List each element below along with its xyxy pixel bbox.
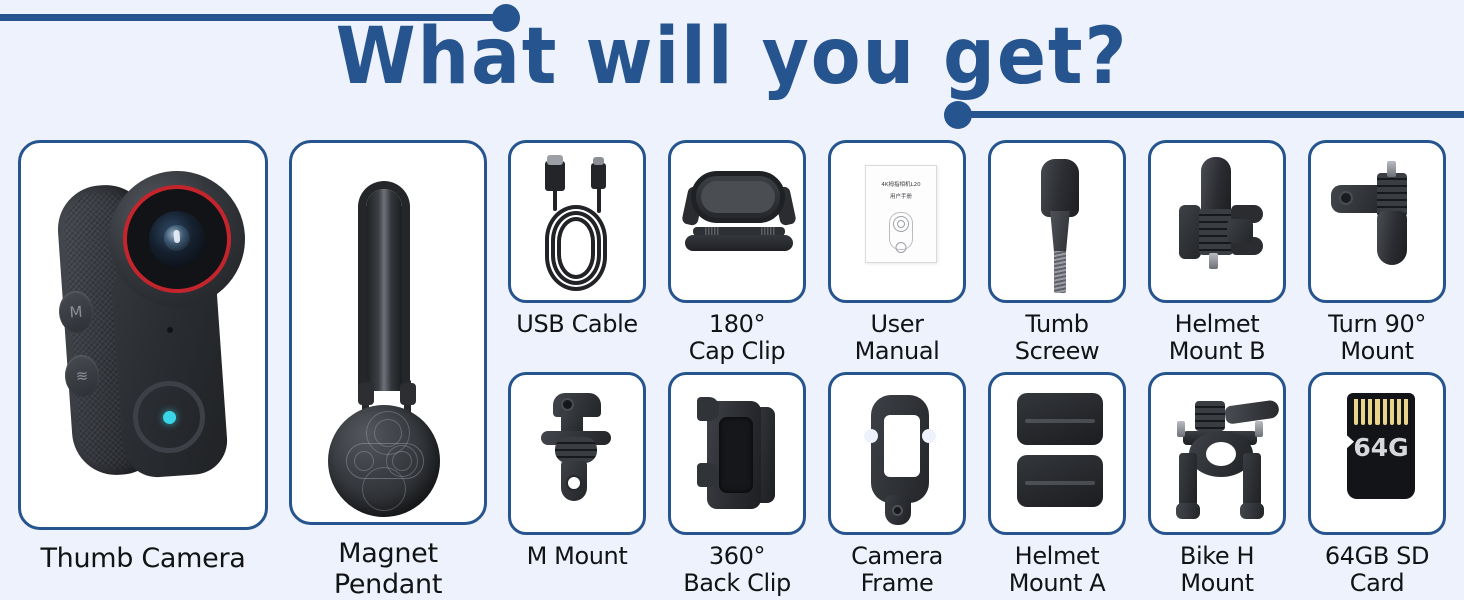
magnet-pendant-icon [292, 143, 484, 522]
product-grid: M ≋ Thumb Camera [0, 140, 1464, 600]
back-clip-icon [671, 375, 803, 532]
helmet-mount-a-icon [991, 375, 1123, 532]
camera-frame-icon [831, 375, 963, 532]
usb-cable-icon [511, 143, 643, 300]
product-tile-user-manual[interactable]: 4K拇指相机L20 用户手册 User Manual [828, 140, 966, 368]
product-card [1148, 140, 1286, 303]
product-tile-back-clip[interactable]: 360° Back Clip [668, 372, 806, 600]
product-card [668, 140, 806, 303]
product-card [1308, 140, 1446, 303]
product-tile-helmet-mount-a[interactable]: Helmet Mount A [988, 372, 1126, 600]
product-card [668, 372, 806, 535]
product-card: 64G [1308, 372, 1446, 535]
helmet-mount-b-icon [1151, 143, 1283, 300]
product-label: 360° Back Clip [683, 543, 791, 597]
cap-clip-icon [671, 143, 803, 300]
product-label: 64GB SD Card [1325, 543, 1429, 597]
featured-column: M ≋ Thumb Camera [18, 140, 492, 600]
product-label: 180° Cap Clip [689, 311, 785, 365]
product-card [988, 140, 1126, 303]
product-tile-cap-clip[interactable]: 180° Cap Clip [668, 140, 806, 368]
product-label: Magnet Pendant [284, 539, 492, 600]
sd-card-capacity: 64G [1352, 433, 1410, 462]
page-title: What will you get? [51, 12, 1413, 102]
product-label: Bike H Mount [1180, 543, 1254, 597]
page-header: What will you get? [0, 0, 1464, 136]
product-tile-m-mount[interactable]: M Mount [508, 372, 646, 600]
product-card [508, 372, 646, 535]
product-label: Helmet Mount B [1169, 311, 1266, 365]
product-card: M ≋ [18, 140, 268, 530]
product-card [289, 140, 487, 525]
product-card [508, 140, 646, 303]
product-label: Helmet Mount A [1009, 543, 1105, 597]
header-rule-bottom [952, 111, 1464, 118]
product-label: USB Cable [516, 311, 637, 338]
product-label: Camera Frame [851, 543, 943, 597]
manual-cover-line2: 用户手册 [866, 192, 936, 204]
product-label: User Manual [828, 311, 966, 365]
product-tile-camera-frame[interactable]: Camera Frame [828, 372, 966, 600]
product-card [828, 372, 966, 535]
thumb-camera-icon: M ≋ [21, 143, 265, 527]
product-tile-usb-cable[interactable]: USB Cable [508, 140, 646, 368]
bike-mount-icon [1151, 375, 1283, 532]
sd-card-icon: 64G [1311, 375, 1443, 532]
product-tile-helmet-mount-b[interactable]: Helmet Mount B [1148, 140, 1286, 368]
product-label: M Mount [527, 543, 628, 570]
product-tile-thumb-camera[interactable]: M ≋ Thumb Camera [18, 140, 268, 600]
manual-cover-line1: 4K拇指相机L20 [866, 180, 936, 192]
product-tile-sd-card[interactable]: 64G 64GB SD Card [1308, 372, 1446, 600]
product-card [1148, 372, 1286, 535]
header-dot-bottom [944, 101, 972, 129]
user-manual-icon: 4K拇指相机L20 用户手册 [831, 143, 963, 300]
product-tile-bike-mount[interactable]: Bike H Mount [1148, 372, 1286, 600]
product-tile-turn-90-mount[interactable]: Turn 90° Mount [1308, 140, 1446, 368]
product-label: Turn 90° Mount [1328, 311, 1426, 365]
product-label: Thumb Camera [40, 544, 245, 575]
m-mount-icon [511, 375, 643, 532]
product-label: Tumb Screew [1015, 311, 1100, 365]
product-card: 4K拇指相机L20 用户手册 [828, 140, 966, 303]
thumb-screw-icon [991, 143, 1123, 300]
product-tile-magnet-pendant[interactable]: Magnet Pendant [284, 140, 492, 600]
product-card [988, 372, 1126, 535]
product-tile-thumb-screw[interactable]: Tumb Screew [988, 140, 1126, 368]
accessory-grid: USB Cable 180° Cap Clip [508, 140, 1446, 600]
turn-90-mount-icon [1311, 143, 1443, 300]
